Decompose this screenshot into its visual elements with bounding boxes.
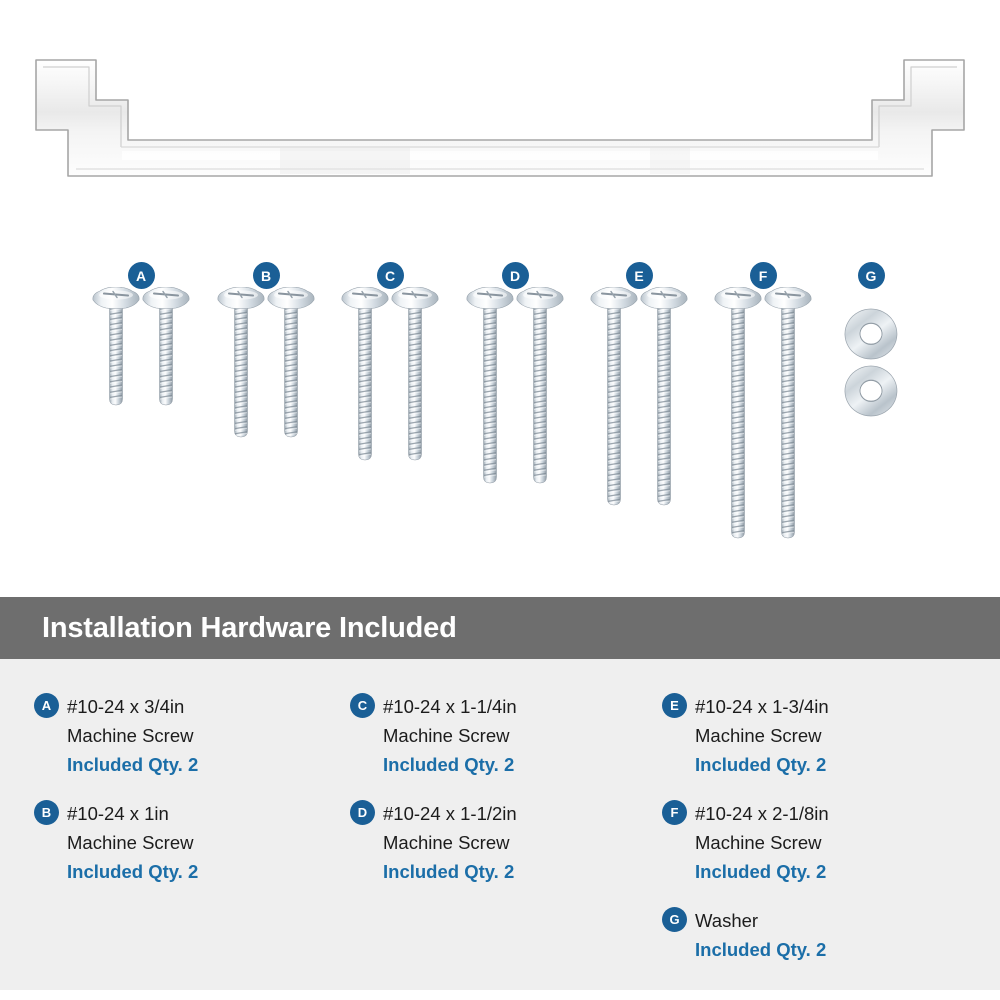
legend-text: #10-24 x 1-1/2inMachine ScrewIncluded Qt… (383, 799, 517, 886)
legend-item-a: A#10-24 x 3/4inMachine ScrewIncluded Qty… (34, 692, 198, 779)
hardware-display-area: A B (0, 240, 1000, 597)
legend-item-e: E#10-24 x 1-3/4inMachine ScrewIncluded Q… (662, 692, 829, 779)
legend-part-name: Machine Screw (383, 721, 517, 750)
page-title: Installation Hardware Included (42, 612, 457, 645)
product-image-area (0, 0, 1000, 240)
legend-quantity: Included Qty. 2 (67, 750, 198, 779)
hardware-badge-b: B (253, 262, 280, 289)
screw-f-1 (713, 287, 763, 551)
legend-part-name: Machine Screw (695, 828, 829, 857)
legend-spec: Washer (695, 906, 829, 935)
legend-spec: #10-24 x 1-1/4in (383, 692, 517, 721)
legend-quantity: Included Qty. 2 (67, 857, 198, 886)
legend-badge-d: D (350, 800, 375, 825)
legend-badge-b: B (34, 800, 59, 825)
cabinet-pull-illustration (30, 52, 970, 192)
legend-quantity: Included Qty. 2 (383, 857, 517, 886)
pull-bar-reflection-right (650, 148, 690, 174)
legend-part-name: Machine Screw (67, 828, 198, 857)
legend-badge-f: F (662, 800, 687, 825)
hardware-badge-f: F (750, 262, 777, 289)
legend-item-f: F#10-24 x 2-1/8inMachine ScrewIncluded Q… (662, 799, 829, 886)
legend-column-3: E#10-24 x 1-3/4inMachine ScrewIncluded Q… (662, 692, 829, 984)
legend-badge-c: C (350, 693, 375, 718)
hardware-badge-c: C (377, 262, 404, 289)
legend-badge-a: A (34, 693, 59, 718)
washer-1 (843, 307, 899, 366)
legend-text: #10-24 x 3/4inMachine ScrewIncluded Qty.… (67, 692, 198, 779)
legend-spec: #10-24 x 2-1/8in (695, 799, 829, 828)
screw-b-2 (266, 287, 316, 450)
legend-spec: #10-24 x 1in (67, 799, 198, 828)
legend-part-name: Machine Screw (67, 721, 198, 750)
screw-a-2 (141, 287, 191, 418)
screw-a-1 (91, 287, 141, 418)
legend-quantity: Included Qty. 2 (383, 750, 517, 779)
legend-spec: #10-24 x 3/4in (67, 692, 198, 721)
hardware-badge-a: A (128, 262, 155, 289)
screw-b-1 (216, 287, 266, 450)
hardware-badge-d: D (502, 262, 529, 289)
screw-d-2 (515, 287, 565, 496)
screw-c-2 (390, 287, 440, 473)
legend-spec: #10-24 x 1-1/2in (383, 799, 517, 828)
legend-panel: A#10-24 x 3/4inMachine ScrewIncluded Qty… (0, 659, 1000, 990)
pull-bar-specular (122, 151, 878, 160)
legend-item-g: GWasherIncluded Qty. 2 (662, 906, 829, 964)
legend-spec: #10-24 x 1-3/4in (695, 692, 829, 721)
hardware-badge-g: G (858, 262, 885, 289)
legend-text: #10-24 x 1-1/4inMachine ScrewIncluded Qt… (383, 692, 517, 779)
screw-e-1 (589, 287, 639, 518)
legend-column-1: A#10-24 x 3/4inMachine ScrewIncluded Qty… (34, 692, 198, 906)
pull-bar-reflection-left (280, 148, 410, 174)
legend-text: #10-24 x 2-1/8inMachine ScrewIncluded Qt… (695, 799, 829, 886)
hardware-badge-e: E (626, 262, 653, 289)
legend-item-c: C#10-24 x 1-1/4inMachine ScrewIncluded Q… (350, 692, 517, 779)
legend-badge-g: G (662, 907, 687, 932)
legend-part-name: Machine Screw (695, 721, 829, 750)
legend-badge-e: E (662, 693, 687, 718)
legend-quantity: Included Qty. 2 (695, 857, 829, 886)
legend-text: #10-24 x 1inMachine ScrewIncluded Qty. 2 (67, 799, 198, 886)
legend-text: WasherIncluded Qty. 2 (695, 906, 829, 964)
legend-text: #10-24 x 1-3/4inMachine ScrewIncluded Qt… (695, 692, 829, 779)
legend-part-name: Machine Screw (383, 828, 517, 857)
screw-c-1 (340, 287, 390, 473)
installation-hardware-header: Installation Hardware Included (0, 597, 1000, 659)
screw-e-2 (639, 287, 689, 518)
legend-quantity: Included Qty. 2 (695, 750, 829, 779)
screw-f-2 (763, 287, 813, 551)
washer-2 (843, 364, 899, 423)
legend-item-b: B#10-24 x 1inMachine ScrewIncluded Qty. … (34, 799, 198, 886)
legend-column-2: C#10-24 x 1-1/4inMachine ScrewIncluded Q… (350, 692, 517, 906)
screw-d-1 (465, 287, 515, 496)
legend-quantity: Included Qty. 2 (695, 935, 829, 964)
legend-item-d: D#10-24 x 1-1/2inMachine ScrewIncluded Q… (350, 799, 517, 886)
